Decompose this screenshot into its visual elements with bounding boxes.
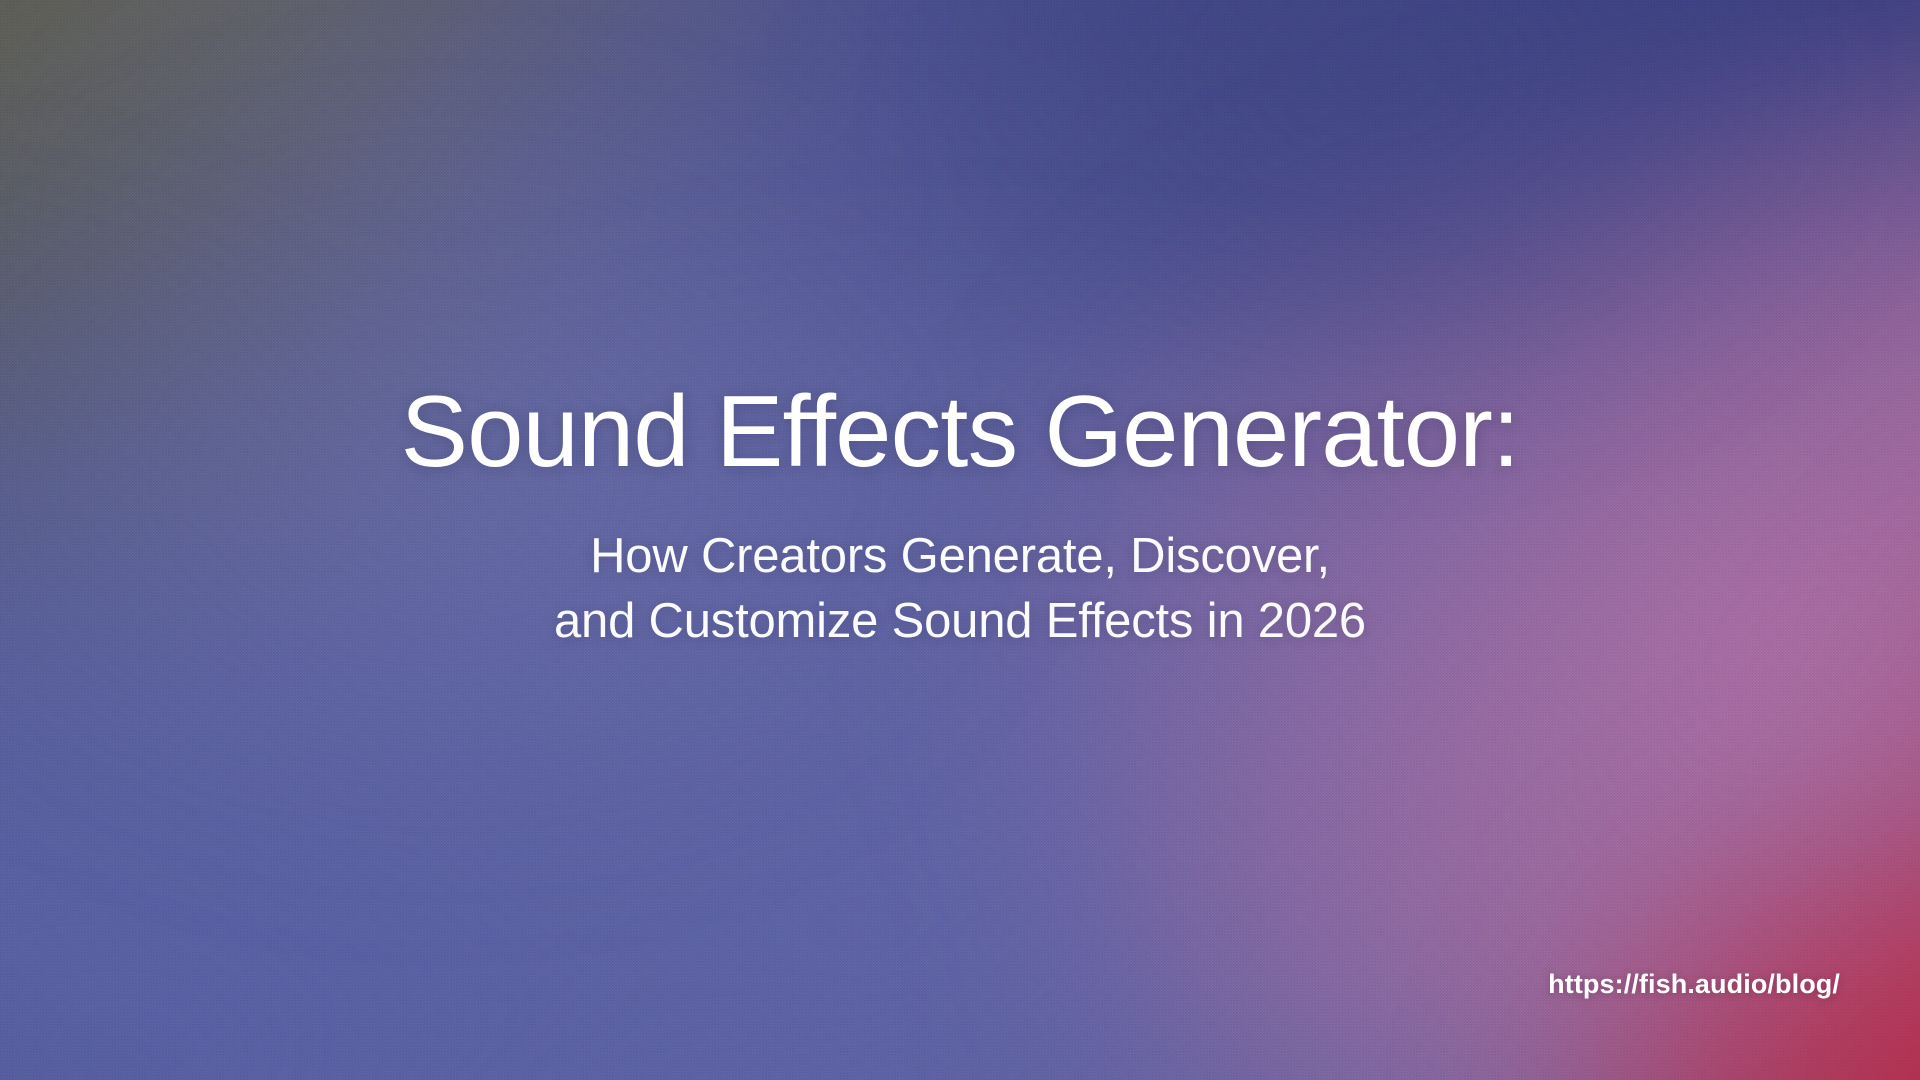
slide-title: Sound Effects Generator: [0,375,1920,490]
slide-subtitle-line-2: and Customize Sound Effects in 2026 [0,589,1920,654]
blog-url[interactable]: https://fish.audio/blog/ [1548,969,1840,1000]
slide-subtitle: How Creators Generate, Discover, and Cus… [0,524,1920,653]
blog-cover-slide: Sound Effects Generator: How Creators Ge… [0,0,1920,1080]
slide-subtitle-line-1: How Creators Generate, Discover, [0,524,1920,589]
slide-content: Sound Effects Generator: How Creators Ge… [0,0,1920,1080]
title-block: Sound Effects Generator: How Creators Ge… [0,375,1920,653]
